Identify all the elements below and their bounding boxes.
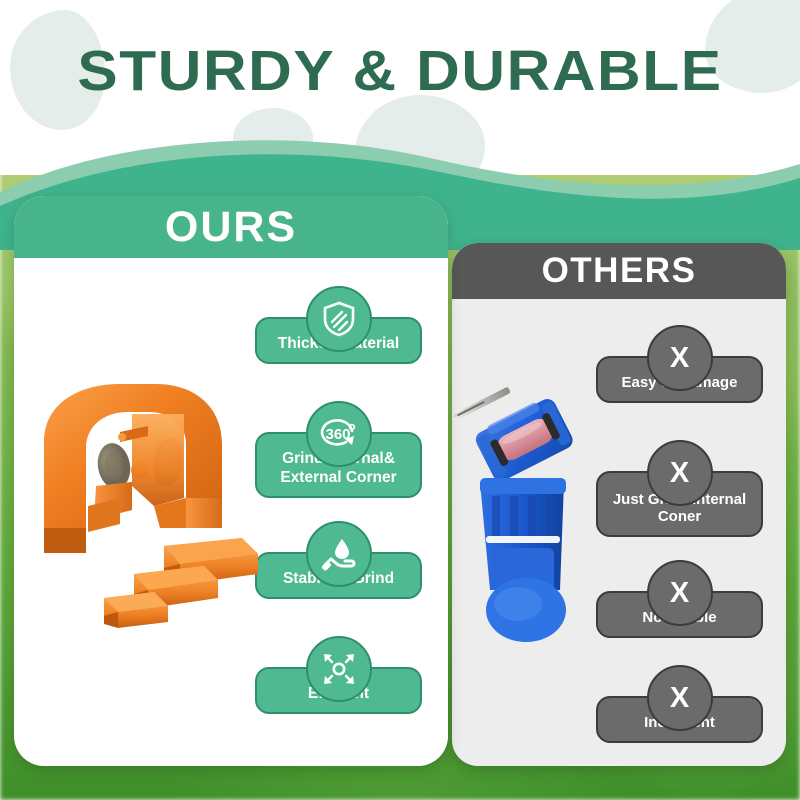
- hand-droplet-icon: [306, 521, 372, 587]
- others-feature-1[interactable]: Easy to Damage X: [596, 325, 763, 403]
- ours-feature-4[interactable]: Efficient: [255, 636, 422, 714]
- x-mark-icon: X: [647, 560, 713, 626]
- expand-arrows-icon: [306, 636, 372, 702]
- others-feature-2[interactable]: Just Grind InternalConer X: [596, 440, 763, 537]
- infographic-stage: STURDY & DURABLE OTHERS Easy to Damage X…: [0, 0, 800, 800]
- x-mark-glyph: X: [670, 579, 689, 608]
- ours-header-label: OURS: [165, 203, 297, 252]
- others-feature-4[interactable]: Inefficient X: [596, 665, 763, 743]
- ours-feature-3[interactable]: Stable to Grind: [255, 521, 422, 599]
- others-header: OTHERS: [452, 243, 786, 299]
- shield-icon: [306, 286, 372, 352]
- x-mark-icon: X: [647, 325, 713, 391]
- others-feature-3[interactable]: Not Stable X: [596, 560, 763, 638]
- others-header-label: OTHERS: [542, 251, 697, 291]
- page-headline: STURDY & DURABLE: [0, 38, 800, 104]
- x-mark-glyph: X: [670, 459, 689, 488]
- ours-feature-2[interactable]: Grind Internal&External Corner 360: [255, 401, 422, 498]
- others-product-image: [452, 378, 612, 653]
- x-mark-icon: X: [647, 440, 713, 506]
- 360-rotation-icon: 360: [306, 401, 372, 467]
- ours-feature-1[interactable]: Thicken Material: [255, 286, 422, 364]
- svg-text:360: 360: [325, 426, 350, 443]
- x-mark-glyph: X: [670, 344, 689, 373]
- x-mark-icon: X: [647, 665, 713, 731]
- ours-product-image: [36, 378, 266, 628]
- ours-header: OURS: [14, 196, 448, 258]
- x-mark-glyph: X: [670, 684, 689, 713]
